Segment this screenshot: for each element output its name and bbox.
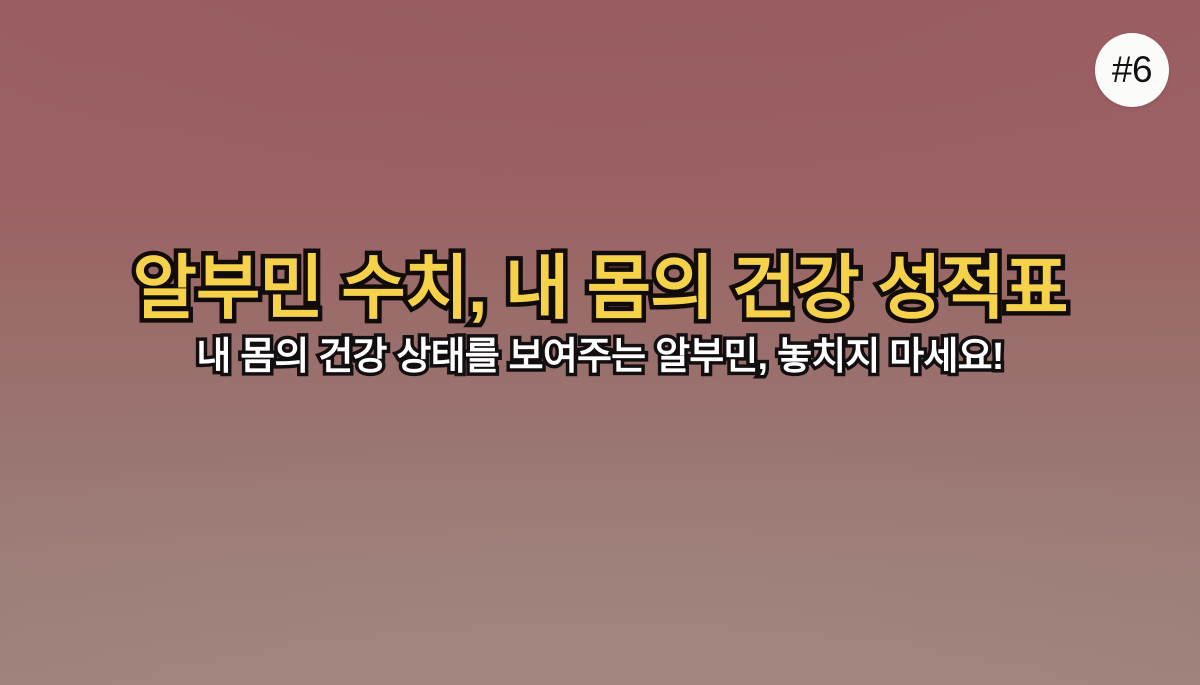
- title-text-block: 알부민 수치, 내 몸의 건강 성적표 내 몸의 건강 상태를 보여주는 알부민…: [0, 252, 1200, 378]
- headline-text: 알부민 수치, 내 몸의 건강 성적표: [133, 252, 1068, 325]
- title-card-slide: #6 알부민 수치, 내 몸의 건강 성적표 내 몸의 건강 상태를 보여주는 …: [0, 0, 1200, 685]
- slide-number-label: #6: [1112, 51, 1152, 88]
- subheadline-text: 내 몸의 건강 상태를 보여주는 알부민, 놓치지 마세요!: [196, 337, 1003, 378]
- slide-number-badge: #6: [1095, 33, 1169, 107]
